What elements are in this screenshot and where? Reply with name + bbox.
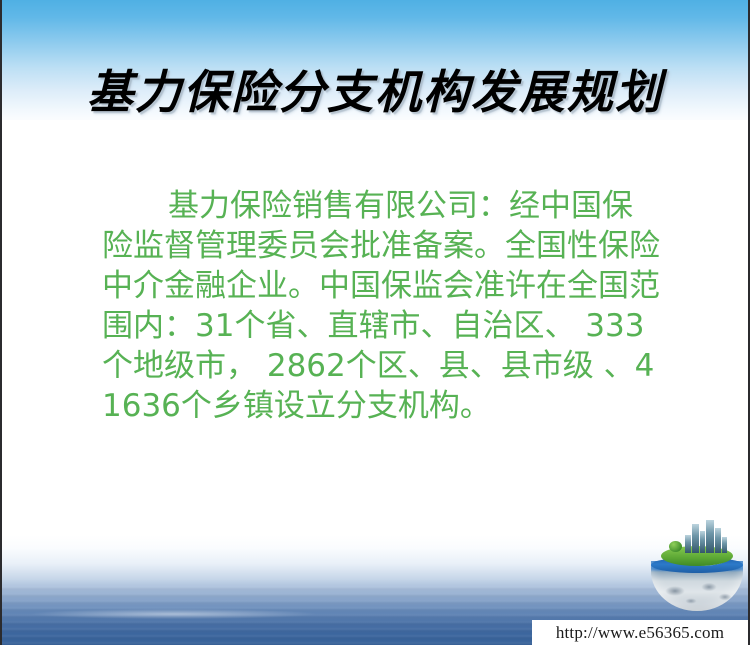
building-1 bbox=[685, 535, 691, 553]
tree-icon bbox=[669, 541, 682, 552]
globe-icon bbox=[647, 517, 747, 613]
building-5 bbox=[715, 528, 721, 553]
building-6 bbox=[722, 537, 727, 553]
building-4 bbox=[706, 520, 714, 553]
slide-title: 基力保险分支机构发展规划 bbox=[2, 56, 748, 122]
building-2 bbox=[692, 524, 699, 553]
sea-glint-highlight bbox=[32, 609, 315, 619]
watermark-url: http://www.e56365.com bbox=[556, 623, 724, 643]
watermark-bar: http://www.e56365.com bbox=[532, 620, 748, 645]
presentation-slide: 基力保险分支机构发展规划 基力保险销售有限公司：经中国保险监督管理委员会批准备案… bbox=[0, 0, 750, 645]
building-3 bbox=[700, 531, 705, 553]
slide-body-text: 基力保险销售有限公司：经中国保险监督管理委员会批准备案。全国性保险中介金融企业。… bbox=[102, 186, 662, 426]
city-skyline-icon bbox=[685, 519, 727, 553]
